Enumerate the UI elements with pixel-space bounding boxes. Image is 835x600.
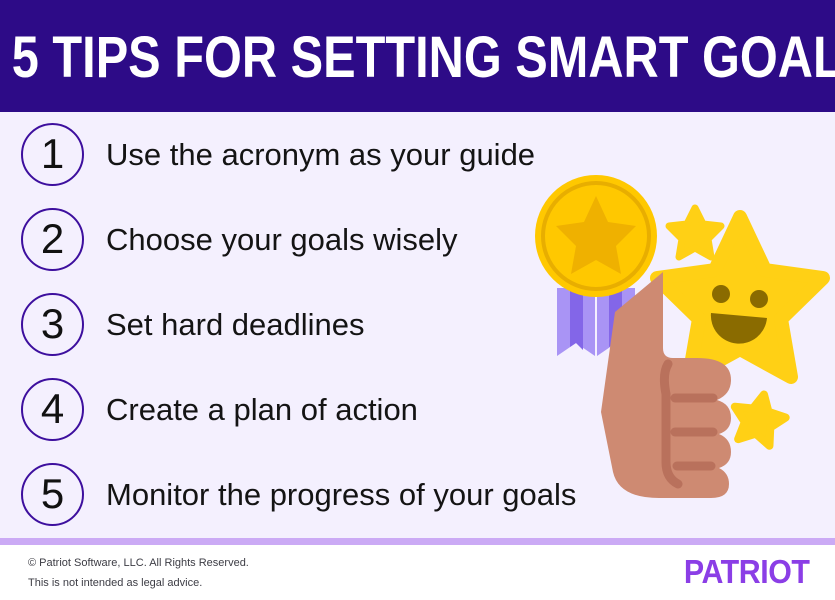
footer-legal-block: © Patriot Software, LLC. All Rights Rese… (28, 553, 548, 593)
list-item: 4 Create a plan of action (0, 367, 680, 452)
tip-number-circle: 5 (21, 463, 84, 526)
list-item: 2 Choose your goals wisely (0, 197, 680, 282)
tip-text-label: Set hard deadlines (106, 308, 365, 342)
star-body (657, 217, 823, 377)
tip-number-circle: 3 (21, 293, 84, 356)
tip-number-circle: 1 (21, 123, 84, 186)
tip-number-label: 4 (41, 388, 64, 430)
list-item: 5 Monitor the progress of your goals (0, 452, 680, 537)
tip-number-circle: 4 (21, 378, 84, 441)
small-star-bottom-icon (728, 389, 789, 448)
list-item: 1 Use the acronym as your guide (0, 112, 680, 197)
tip-number-circle: 2 (21, 208, 84, 271)
tip-number-label: 5 (41, 473, 64, 515)
tip-number-label: 1 (41, 133, 64, 175)
tip-text-label: Monitor the progress of your goals (106, 478, 576, 512)
copyright-line: © Patriot Software, LLC. All Rights Rese… (28, 553, 548, 573)
tip-number-label: 3 (41, 303, 64, 345)
infographic-root: 5 TIPS FOR SETTING SMART GOALS 1 Use the… (0, 0, 835, 600)
footer: © Patriot Software, LLC. All Rights Rese… (0, 545, 835, 600)
footer-divider (0, 538, 835, 545)
disclaimer-line: This is not intended as legal advice. (28, 573, 548, 593)
star-face-icon (657, 217, 823, 377)
tips-list: 1 Use the acronym as your guide 2 Choose… (0, 112, 680, 537)
star-smile (711, 313, 767, 344)
tip-number-label: 2 (41, 218, 64, 260)
header-bar: 5 TIPS FOR SETTING SMART GOALS (0, 0, 835, 112)
tip-text-label: Use the acronym as your guide (106, 138, 535, 172)
tips-body: 1 Use the acronym as your guide 2 Choose… (0, 112, 835, 538)
list-item: 3 Set hard deadlines (0, 282, 680, 367)
tip-text-label: Create a plan of action (106, 393, 418, 427)
star-eye-right (750, 290, 768, 308)
page-title: 5 TIPS FOR SETTING SMART GOALS (0, 29, 835, 87)
patriot-logo: PATRIOT (683, 555, 809, 588)
star-eye-left (712, 285, 730, 303)
tip-text-label: Choose your goals wisely (106, 223, 458, 257)
